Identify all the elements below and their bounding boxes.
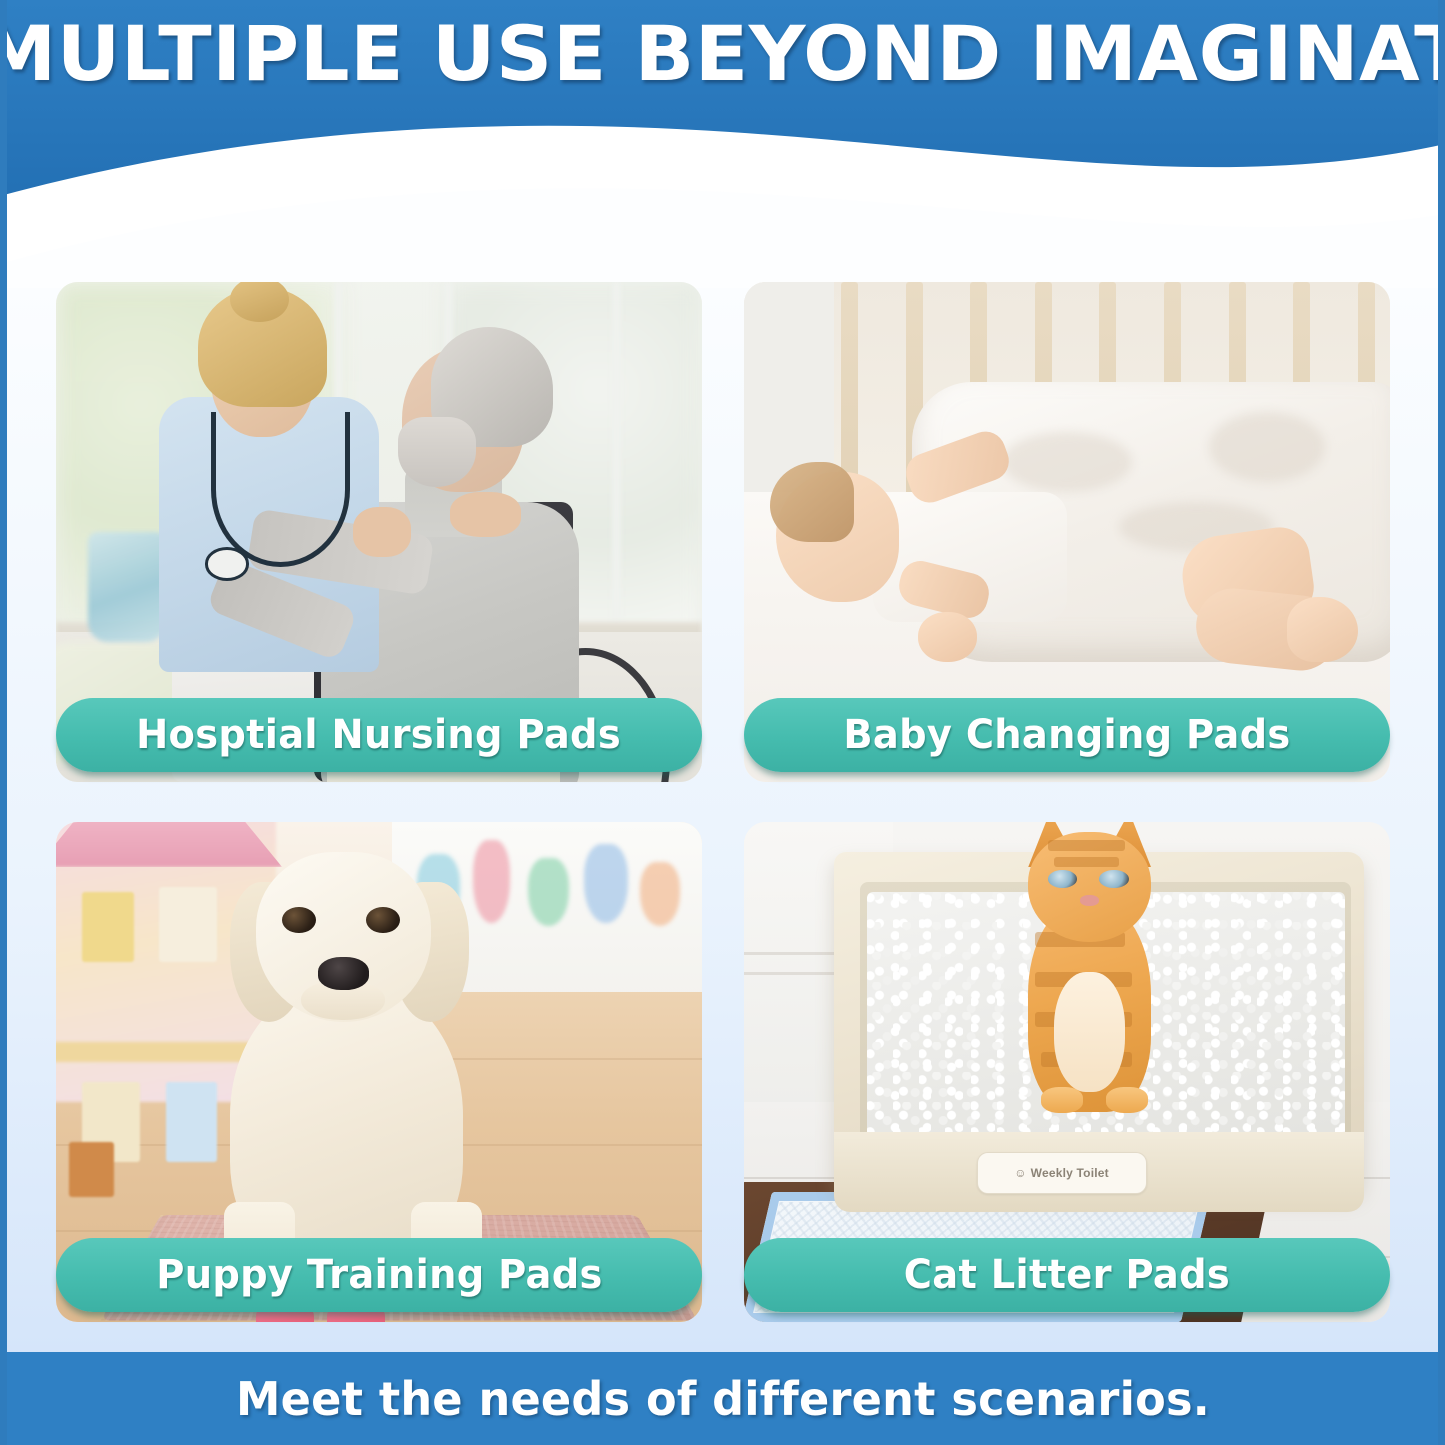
cat-head-icon: ☺ [1014, 1166, 1026, 1180]
product-feature-poster: MULTIPLE USE BEYOND IMAGINATION [0, 0, 1445, 1445]
card-label-text: Cat Litter Pads [904, 1252, 1230, 1298]
right-edge-border [1438, 0, 1445, 1445]
card-label-text: Puppy Training Pads [156, 1252, 602, 1298]
brand-text: Weekly Toilet [1031, 1166, 1109, 1180]
card-label-text: Hosptial Nursing Pads [137, 712, 622, 758]
card-label-text: Baby Changing Pads [843, 712, 1290, 758]
card-label-hospital-nursing: Hosptial Nursing Pads [56, 698, 702, 772]
left-edge-border [0, 0, 7, 1445]
card-label-puppy-training: Puppy Training Pads [56, 1238, 702, 1312]
card-label-baby-changing: Baby Changing Pads [744, 698, 1390, 772]
footer-banner: Meet the needs of different scenarios. [0, 1352, 1445, 1445]
scenario-card-grid: Hosptial Nursing Pads [0, 0, 1445, 1445]
footer-tagline: Meet the needs of different scenarios. [236, 1372, 1210, 1426]
weekly-toilet-brand-label: ☺ Weekly Toilet [977, 1152, 1147, 1194]
card-label-cat-litter: Cat Litter Pads [744, 1238, 1390, 1312]
